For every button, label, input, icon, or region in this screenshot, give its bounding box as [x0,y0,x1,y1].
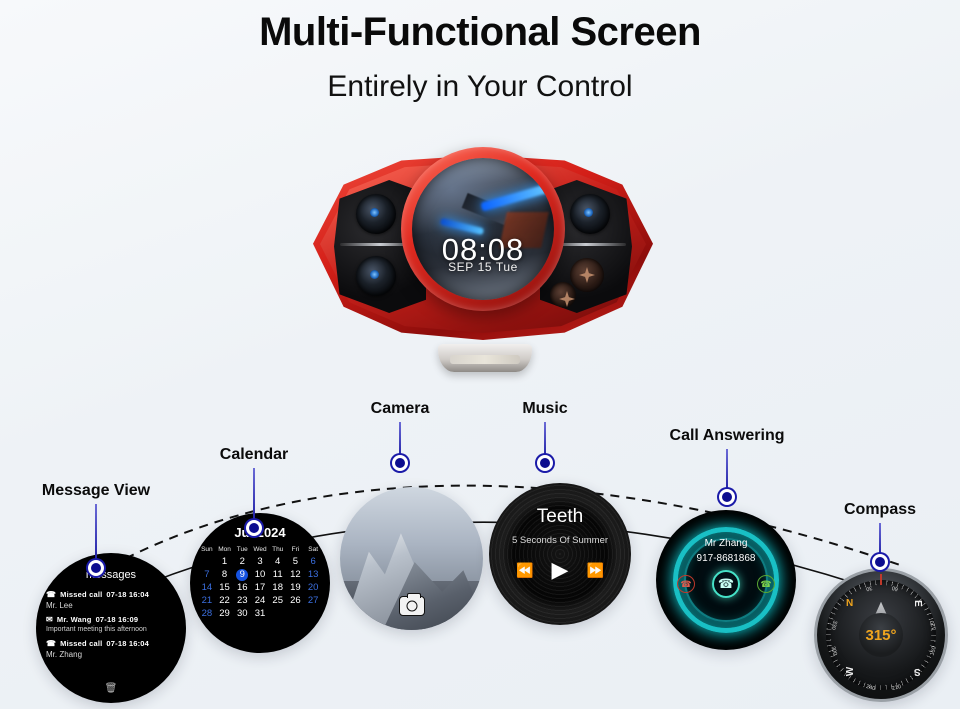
phone-icon: ☎ [46,590,56,600]
skip-previous-icon[interactable]: ⏪ [516,563,533,577]
message-preview: Mr. Lee [46,601,176,611]
camera-icon[interactable] [399,596,425,616]
compass-index-mark [880,574,882,585]
compass-button-icon [570,258,604,292]
compass-cardinal-S: S [914,666,921,677]
calendar-dow: Tue [233,546,251,555]
camera-lens-icon [570,194,610,234]
calendar-dow: Mon [216,546,234,555]
feature-face-music[interactable]: Teeth 5 Seconds Of Summer ⏪ ▶ ⏩ [489,483,631,625]
message-time: 07-18 16:09 [96,615,139,624]
calendar-day[interactable]: 3 [251,556,269,568]
compass-cardinal-W: W [845,667,856,676]
calendar-day[interactable]: 17 [251,582,269,594]
message-row[interactable]: ☎Missed call07-18 16:04 [46,590,176,600]
mail-icon: ✉ [46,615,53,625]
product-image: 08:08 SEP 15 Tue [308,133,658,368]
compass-bearing: 150 [930,646,938,656]
compass-heading: 315° [865,627,896,644]
message-type: Mr. Wang [57,615,92,624]
message-time: 07-18 16:04 [106,639,149,648]
calendar-day[interactable]: 28 [198,608,216,620]
feature-face-calendar[interactable]: Jul 2024 SunMonTueWedThuFriSat1234567891… [190,513,330,653]
music-track-title: Teeth [489,506,631,528]
feature-face-compass[interactable]: 315° NESW3060120150210240300330 [814,568,948,702]
calendar-day[interactable]: 25 [269,595,287,607]
play-icon[interactable]: ▶ [552,559,569,581]
calendar-day[interactable]: 26 [287,595,305,607]
compass-bearing: 30 [865,584,872,591]
calendar-dow: Sat [304,546,322,555]
feature-marker-camera[interactable] [392,455,408,471]
calendar-day[interactable]: 1 [216,556,234,568]
camera-lens-icon [356,194,396,234]
calendar-day[interactable]: 18 [269,582,287,594]
calendar-day[interactable]: 29 [216,608,234,620]
calendar-day[interactable]: 11 [269,569,287,581]
watch-screen: 08:08 SEP 15 Tue [412,158,554,300]
call-actions: ☎ ☎ ☎ [656,570,796,598]
compass-bearing: 240 [865,684,875,692]
message-type: Missed call [60,639,102,648]
skip-next-icon[interactable]: ⏩ [586,563,603,577]
calendar-blank [198,556,216,568]
calendar-day[interactable]: 15 [216,582,234,594]
message-preview: Important meeting this afternoon [46,626,176,635]
phone-hangup-icon[interactable]: ☎ [677,575,695,593]
message-preview: Mr. Zhang [46,650,176,660]
feature-face-camera[interactable] [340,487,483,630]
page-subtitle: Entirely in Your Control [0,70,960,104]
calendar-day[interactable]: 30 [233,608,251,620]
feature-label-message-view: Message View [42,482,150,500]
messages-list: ☎Missed call07-18 16:04Mr. Lee✉Mr. Wang0… [46,586,176,660]
calendar-day[interactable]: 19 [287,582,305,594]
calendar-dow: Fri [287,546,305,555]
calendar-day[interactable]: 16 [233,582,251,594]
compass-center: 315° [859,613,903,657]
caller-number: 917-8681868 [656,553,796,564]
calendar-dow: Sun [198,546,216,555]
calendar-grid: SunMonTueWedThuFriSat1234567891011121314… [198,546,322,620]
calendar-day[interactable]: 27 [304,595,322,607]
calendar-day[interactable]: 14 [198,582,216,594]
calendar-day[interactable]: 9 [236,569,248,581]
music-artist: 5 Seconds Of Summer [489,535,631,546]
watch-bezel: 08:08 SEP 15 Tue [401,147,565,311]
feature-stem-calendar [253,468,255,528]
messages-title: messages [36,569,186,581]
feature-label-calendar: Calendar [220,446,288,464]
message-type: Missed call [60,590,102,599]
trash-icon[interactable]: 🗑 [105,683,118,694]
calendar-day[interactable]: 2 [233,556,251,568]
feature-marker-calendar[interactable] [246,520,262,536]
calendar-day[interactable]: 22 [216,595,234,607]
calendar-dow: Wed [251,546,269,555]
feature-label-call-answering: Call Answering [670,427,785,445]
compass-cardinal-N: N [846,598,853,609]
feature-label-compass: Compass [844,501,916,519]
feature-face-call-answering[interactable]: Mr Zhang 917-8681868 ☎ ☎ ☎ [656,510,796,650]
caller-name: Mr Zhang [656,538,796,549]
phone-pickup-icon[interactable]: ☎ [757,575,775,593]
camera-lens-icon [356,256,396,296]
calendar-day[interactable]: 8 [216,569,234,581]
calendar-day[interactable]: 7 [198,569,216,581]
page-title: Multi-Functional Screen [0,10,960,55]
calendar-day[interactable]: 24 [251,595,269,607]
flashlight-button-icon [550,282,576,308]
calendar-day[interactable]: 12 [287,569,305,581]
calendar-day[interactable]: 21 [198,595,216,607]
feature-marker-compass[interactable] [872,554,888,570]
vinyl-grooves [489,483,631,625]
calendar-day[interactable]: 6 [304,556,322,568]
feature-stem-message-view [95,504,97,568]
feature-label-music: Music [522,400,567,418]
calendar-day[interactable]: 5 [287,556,305,568]
calendar-day[interactable]: 23 [233,595,251,607]
message-row[interactable]: ✉Mr. Wang07-18 16:09 [46,615,176,625]
calendar-day[interactable]: 31 [251,608,269,620]
calendar-day[interactable]: 20 [304,582,322,594]
calendar-dow: Thu [269,546,287,555]
calendar-day[interactable]: 13 [304,569,322,581]
music-controls: ⏪ ▶ ⏩ [489,559,631,581]
message-row[interactable]: ☎Missed call07-18 16:04 [46,639,176,649]
screen-art-neon [480,182,554,212]
compass-bearing: 120 [930,619,938,629]
feature-face-message-view[interactable]: messages ☎Missed call07-18 16:04Mr. Lee✉… [36,553,186,703]
compass-bearing: 210 [892,684,902,692]
phone-icon: ☎ [46,639,56,649]
feature-label-camera: Camera [371,400,430,418]
calendar-day[interactable]: 4 [269,556,287,568]
watch-strap [438,344,532,372]
feature-marker-message-view[interactable] [88,560,104,576]
compass-cardinal-E: E [912,600,923,607]
feature-marker-call-answering[interactable] [719,489,735,505]
calendar-day[interactable]: 10 [251,569,269,581]
watch-date: SEP 15 Tue [412,260,554,274]
phone-icon[interactable]: ☎ [712,570,740,598]
message-time: 07-18 16:04 [106,590,149,599]
feature-marker-music[interactable] [537,455,553,471]
